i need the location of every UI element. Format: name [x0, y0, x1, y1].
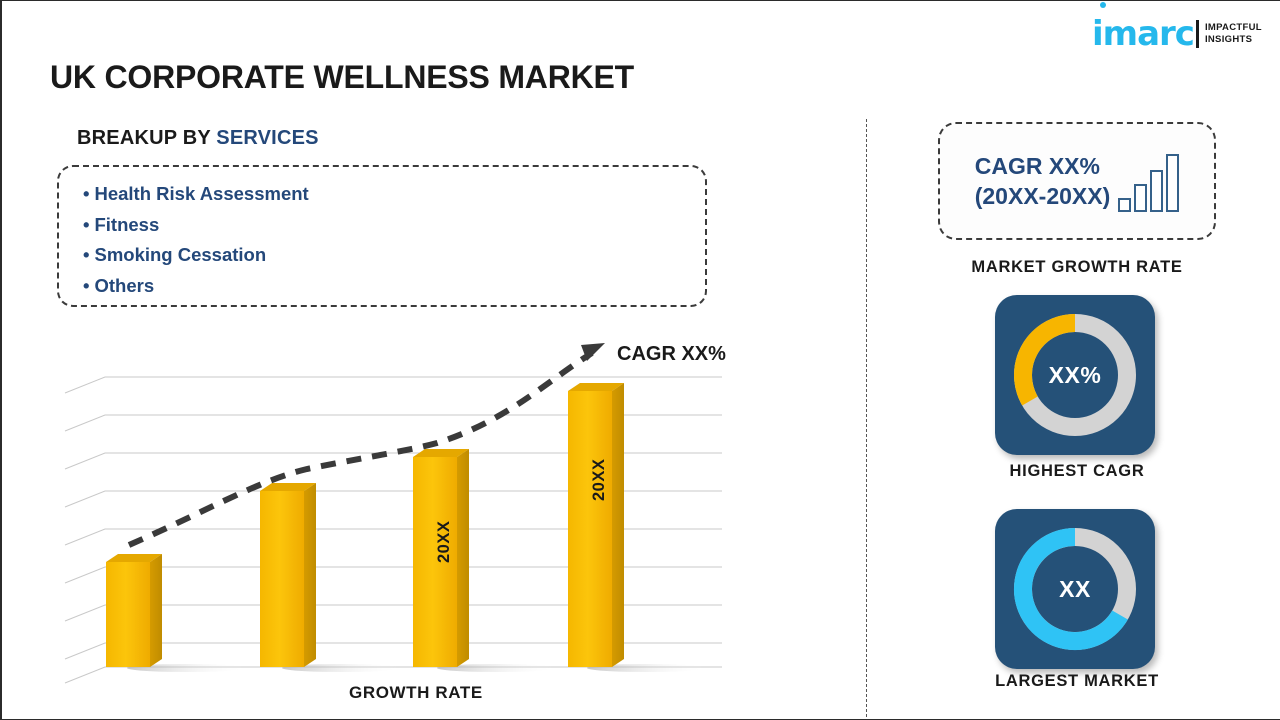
list-item: •Smoking Cessation: [83, 240, 705, 271]
cagr-box-text: CAGR XX% (20XX-20XX): [975, 151, 1111, 211]
bar-chart-icon: [1118, 150, 1179, 212]
largest-market-card: XX: [995, 509, 1155, 669]
bullet-icon: •: [83, 275, 89, 296]
service-label: Health Risk Assessment: [94, 183, 308, 204]
chart-x-axis-label: GROWTH RATE: [349, 683, 483, 703]
list-item: •Health Risk Assessment: [83, 179, 705, 210]
largest-market-value: XX: [995, 509, 1155, 669]
logo-tagline-line1: IMPACTFUL: [1205, 22, 1262, 34]
cagr-value: CAGR XX%: [975, 151, 1111, 181]
highest-cagr-card: XX%: [995, 295, 1155, 455]
list-item: •Fitness: [83, 210, 705, 241]
logo-tagline-line2: INSIGHTS: [1205, 34, 1262, 46]
bullet-icon: •: [83, 214, 89, 235]
bar-value-label: 20XX: [435, 521, 454, 563]
cagr-period: (20XX-20XX): [975, 181, 1111, 211]
logo-dot-icon: [1100, 2, 1106, 8]
logo-tagline: IMPACTFUL INSIGHTS: [1205, 22, 1262, 46]
bullet-icon: •: [83, 244, 89, 265]
breakup-heading: BREAKUP BY SERVICES: [77, 127, 319, 150]
growth-rate-bar-chart: CAGR XX% 20XX 20XX GROWTH RATE: [57, 331, 757, 711]
bar-value-label: 20XX: [590, 459, 609, 501]
chart-trendline-label: CAGR XX%: [617, 343, 726, 366]
service-label: Smoking Cessation: [94, 244, 266, 265]
panel-divider: [866, 119, 867, 717]
service-label: Fitness: [94, 214, 159, 235]
breakup-heading-accent: SERVICES: [216, 127, 318, 149]
infographic-page: imarc IMPACTFUL INSIGHTS UK CORPORATE WE…: [0, 0, 1280, 720]
largest-market-caption: LARGEST MARKET: [902, 672, 1252, 691]
logo-divider: [1196, 20, 1199, 48]
chart-svg: [57, 331, 757, 711]
chart-bar: [260, 483, 316, 667]
bullet-icon: •: [83, 183, 89, 204]
imarc-logo: imarc IMPACTFUL INSIGHTS: [1092, 11, 1272, 57]
chart-bar: [106, 554, 162, 667]
chart-trendline: [129, 343, 605, 545]
breakup-heading-plain: BREAKUP BY: [77, 127, 216, 149]
chart-bar: [568, 383, 624, 667]
service-label: Others: [94, 275, 154, 296]
services-list-box: •Health Risk Assessment •Fitness •Smokin…: [57, 165, 707, 307]
highest-cagr-caption: HIGHEST CAGR: [902, 462, 1252, 481]
page-title: UK CORPORATE WELLNESS MARKET: [50, 59, 634, 96]
list-item: •Others: [83, 271, 705, 302]
market-growth-rate-box: CAGR XX% (20XX-20XX): [938, 122, 1216, 240]
market-growth-rate-caption: MARKET GROWTH RATE: [902, 258, 1252, 277]
highest-cagr-value: XX%: [995, 295, 1155, 455]
logo-wordmark: imarc: [1092, 17, 1194, 51]
